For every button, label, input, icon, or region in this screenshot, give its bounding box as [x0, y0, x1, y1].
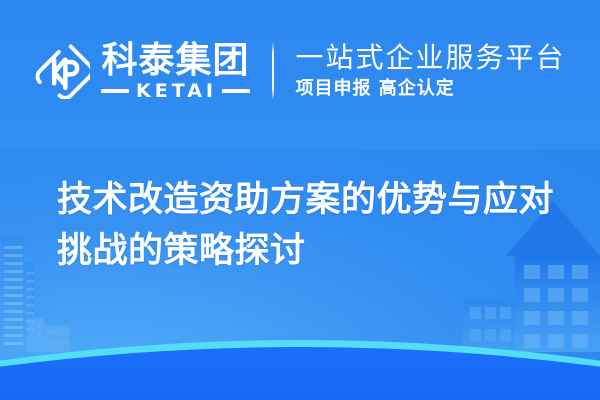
tagline-main: 一站式企业服务平台 — [296, 41, 566, 75]
tagline: 一站式企业服务平台 项目申报 高企认定 — [274, 41, 566, 101]
logo: 科泰集团 KETAI — [34, 42, 271, 101]
building-left-lowrise — [44, 325, 70, 354]
page-title: 技术改造资助方案的优势与应对挑战的策略探讨 — [57, 175, 555, 277]
logo-rule-right — [222, 89, 250, 93]
logo-rule-left — [101, 89, 129, 93]
kp-monogram-diamond-icon — [34, 43, 90, 99]
logo-english-name: KETAI — [134, 81, 217, 101]
logo-chinese-name: 科泰集团 — [101, 42, 249, 80]
tagline-sub: 项目申报 高企认定 — [296, 77, 566, 101]
banner-header: 科泰集团 KETAI 一站式企业服务平台 项目申报 高企认定 — [0, 33, 600, 109]
building-left-tower — [2, 236, 25, 354]
banner: 科泰集团 KETAI 一站式企业服务平台 项目申报 高企认定 技术改造资助方案的… — [0, 0, 600, 400]
logo-wordmark: 科泰集团 KETAI — [101, 42, 249, 101]
building-left-midrise — [27, 318, 44, 354]
logo-english-row: KETAI — [101, 81, 249, 101]
